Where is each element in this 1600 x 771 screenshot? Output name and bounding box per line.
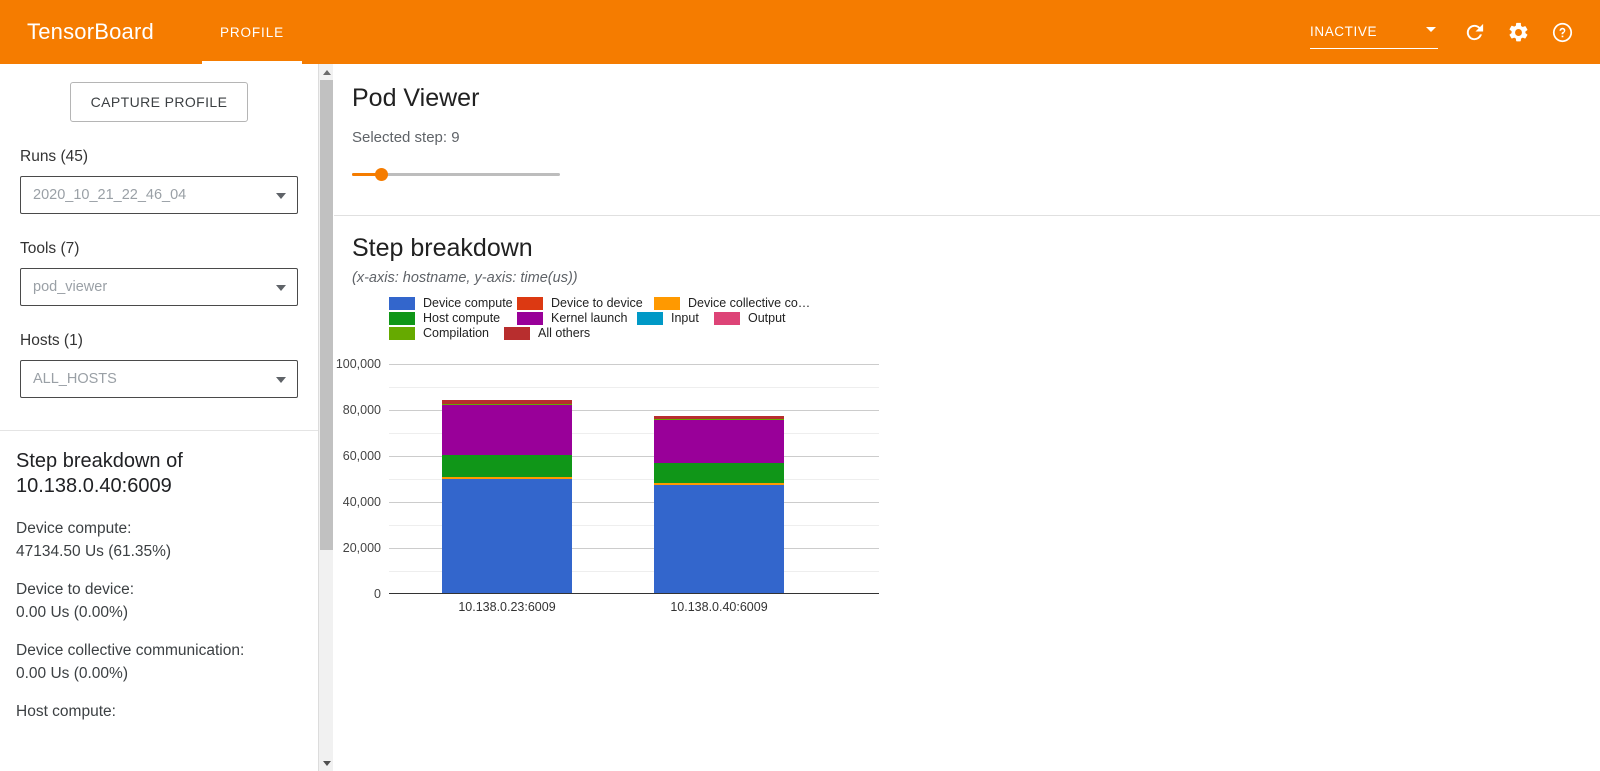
stat-row: Device collective communication:0.00 Us … — [16, 641, 302, 685]
hosts-dropdown[interactable]: ALL_HOSTS — [20, 360, 298, 398]
stat-row: Host compute: — [16, 702, 302, 722]
runs-dropdown[interactable]: 2020_10_21_22_46_04 — [20, 176, 298, 214]
chart-bar-segment[interactable] — [654, 485, 784, 593]
chart-bar[interactable] — [442, 400, 572, 593]
top-app-bar: TensorBoard PROFILE INACTIVE — [0, 0, 1600, 64]
legend-swatch — [714, 312, 740, 325]
tools-label: Tools (7) — [20, 240, 298, 258]
legend-row: CompilationAll others — [389, 326, 869, 341]
legend-label: Input — [671, 311, 699, 325]
tools-selected-value: pod_viewer — [33, 279, 107, 295]
gridline-minor — [389, 387, 879, 388]
chart-plot-area: 020,00040,00060,00080,000100,000 10.138.… — [389, 364, 879, 594]
legend-swatch — [637, 312, 663, 325]
gridline-major — [389, 364, 879, 365]
chart-bar-segment[interactable] — [442, 455, 572, 477]
legend-row: Host computeKernel launchInputOutput — [389, 311, 869, 326]
y-axis-tick-label: 100,000 — [336, 357, 381, 371]
help-icon — [1551, 21, 1574, 44]
topbar-actions: INACTIVE — [1310, 12, 1582, 52]
legend-item[interactable]: All others — [504, 326, 590, 340]
tools-field: Tools (7) pod_viewer — [0, 240, 318, 306]
settings-gear-icon — [1507, 21, 1530, 44]
legend-label: Device collective com… — [688, 296, 816, 310]
chart-bar-segment[interactable] — [442, 405, 572, 455]
stat-key: Device to device: — [16, 580, 302, 600]
step-breakdown-heading: Step breakdown of 10.138.0.40:6009 — [16, 449, 302, 499]
legend-item[interactable]: Kernel launch — [517, 311, 627, 325]
run-status-dropdown[interactable]: INACTIVE — [1310, 15, 1438, 49]
help-button[interactable] — [1542, 12, 1582, 52]
legend-label: Kernel launch — [551, 311, 627, 325]
run-status-value: INACTIVE — [1310, 24, 1377, 39]
page-title: Pod Viewer — [352, 84, 1600, 113]
legend-label: Device compute — [423, 296, 513, 310]
chevron-down-icon — [276, 377, 286, 383]
x-axis-tick-label: 10.138.0.23:6009 — [458, 600, 555, 614]
legend-swatch — [517, 312, 543, 325]
legend-label: Compilation — [423, 326, 489, 340]
step-breakdown-stats: Device compute:47134.50 Us (61.35%)Devic… — [16, 519, 302, 722]
stat-key: Device compute: — [16, 519, 302, 539]
tab-profile[interactable]: PROFILE — [202, 0, 302, 64]
legend-swatch — [517, 297, 543, 310]
step-breakdown-panel: Step breakdown of 10.138.0.40:6009 Devic… — [0, 431, 318, 722]
chart-x-axis — [389, 593, 879, 595]
hosts-label: Hosts (1) — [20, 332, 298, 350]
legend-label: Output — [748, 311, 786, 325]
stat-value: 47134.50 Us (61.35%) — [16, 541, 302, 563]
runs-selected-value: 2020_10_21_22_46_04 — [33, 187, 186, 203]
step-breakdown-chart: Device computeDevice to deviceDevice col… — [344, 296, 944, 626]
chart-title: Step breakdown — [352, 234, 533, 263]
chart-bar-segment[interactable] — [442, 479, 572, 593]
step-slider[interactable] — [352, 164, 560, 184]
left-sidebar: CAPTURE PROFILE Runs (45) 2020_10_21_22_… — [0, 64, 318, 771]
legend-label: Host compute — [423, 311, 500, 325]
hosts-selected-value: ALL_HOSTS — [33, 371, 117, 387]
step-slider-thumb[interactable] — [375, 168, 388, 181]
stat-row: Device to device:0.00 Us (0.00%) — [16, 580, 302, 624]
sidebar-scrollbar-thumb[interactable] — [320, 80, 333, 550]
stat-key: Host compute: — [16, 702, 302, 722]
section-divider — [334, 215, 1600, 216]
hosts-field: Hosts (1) ALL_HOSTS — [0, 332, 318, 398]
chart-bar-segment[interactable] — [654, 420, 784, 463]
runs-label: Runs (45) — [20, 148, 298, 166]
main-content: Pod Viewer Selected step: 9 Step breakdo… — [334, 64, 1600, 771]
y-axis-tick-label: 20,000 — [343, 541, 381, 555]
legend-label: All others — [538, 326, 590, 340]
chart-bar-segment[interactable] — [654, 463, 784, 483]
legend-item[interactable]: Device compute — [389, 296, 513, 310]
chart-bar[interactable] — [654, 416, 784, 593]
y-axis-tick-label: 80,000 — [343, 403, 381, 417]
legend-swatch — [389, 327, 415, 340]
tools-dropdown[interactable]: pod_viewer — [20, 268, 298, 306]
legend-item[interactable]: Output — [714, 311, 786, 325]
chart-subtitle: (x-axis: hostname, y-axis: time(us)) — [352, 270, 578, 286]
stat-value: 0.00 Us (0.00%) — [16, 663, 302, 685]
chart-legend: Device computeDevice to deviceDevice col… — [389, 296, 869, 341]
settings-button[interactable] — [1498, 12, 1538, 52]
chevron-down-icon — [1426, 27, 1436, 32]
chevron-down-icon — [276, 193, 286, 199]
legend-swatch — [654, 297, 680, 310]
refresh-icon — [1463, 21, 1486, 44]
chevron-down-icon — [276, 285, 286, 291]
app-brand-title: TensorBoard — [27, 19, 154, 45]
runs-field: Runs (45) 2020_10_21_22_46_04 — [0, 148, 318, 214]
y-axis-tick-label: 40,000 — [343, 495, 381, 509]
legend-item[interactable]: Device collective com… — [654, 296, 816, 310]
capture-profile-row: CAPTURE PROFILE — [0, 64, 318, 122]
legend-item[interactable]: Device to device — [517, 296, 643, 310]
y-axis-tick-label: 60,000 — [343, 449, 381, 463]
legend-row: Device computeDevice to deviceDevice col… — [389, 296, 869, 311]
stat-row: Device compute:47134.50 Us (61.35%) — [16, 519, 302, 563]
reload-button[interactable] — [1454, 12, 1494, 52]
sidebar-scrollbar[interactable] — [318, 64, 333, 771]
legend-label: Device to device — [551, 296, 643, 310]
x-axis-tick-label: 10.138.0.40:6009 — [670, 600, 767, 614]
selected-step-label: Selected step: 9 — [352, 129, 1600, 146]
legend-item[interactable]: Compilation — [389, 326, 489, 340]
nav-tabs: PROFILE — [202, 0, 302, 64]
stat-value: 0.00 Us (0.00%) — [16, 602, 302, 624]
scroll-down-arrow-icon[interactable] — [319, 755, 334, 771]
legend-swatch — [389, 312, 415, 325]
legend-swatch — [504, 327, 530, 340]
stat-key: Device collective communication: — [16, 641, 302, 661]
legend-item[interactable]: Input — [637, 311, 699, 325]
y-axis-tick-label: 0 — [374, 587, 381, 601]
legend-swatch — [389, 297, 415, 310]
legend-item[interactable]: Host compute — [389, 311, 500, 325]
capture-profile-button[interactable]: CAPTURE PROFILE — [70, 82, 249, 122]
scroll-up-arrow-icon[interactable] — [319, 64, 334, 80]
